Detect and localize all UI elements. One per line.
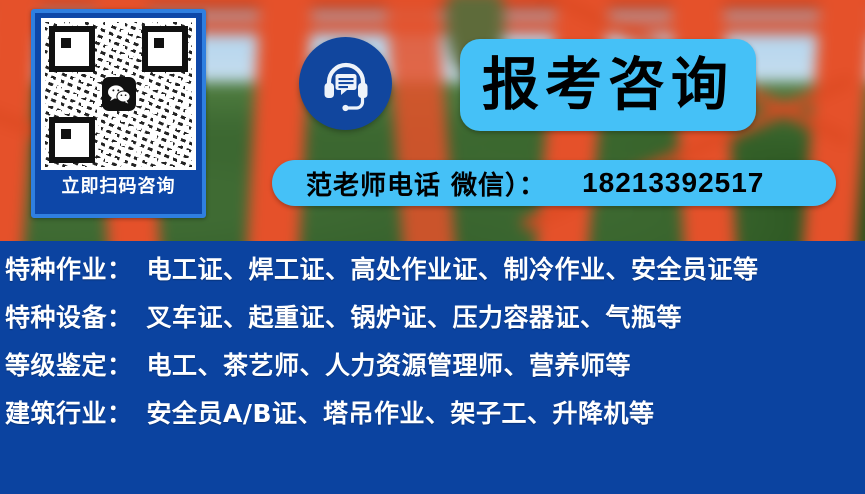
wechat-icon xyxy=(102,77,136,111)
page-title: 报考咨询 xyxy=(482,57,734,114)
promo-banner: 立即扫码咨询 报考咨询 范老师电话 微信）： 18213392517 特种作业：… xyxy=(0,0,865,494)
category-row: 等级鉴定： 电工、茶艺师、人力资源管理师、营养师等 xyxy=(0,346,865,394)
qr-matrix xyxy=(45,22,192,167)
category-label: 特种设备： xyxy=(5,298,133,334)
qr-finder-top-right xyxy=(142,26,188,72)
contact-pill[interactable]: 范老师电话 微信）： 18213392517 xyxy=(272,160,836,206)
category-panel: 特种作业： 电工证、焊工证、高处作业证、制冷作业、安全员证等 特种设备： 叉车证… xyxy=(0,241,865,494)
category-row: 特种设备： 叉车证、起重证、锅炉证、压力容器证、气瓶等 xyxy=(0,298,865,346)
category-items: 电工、茶艺师、人力资源管理师、营养师等 xyxy=(147,346,632,382)
category-label: 特种作业： xyxy=(5,250,133,286)
title-badge: 报考咨询 xyxy=(460,39,756,131)
qr-finder-top-left xyxy=(49,26,95,72)
category-items: 安全员A/B证、塔吊作业、架子工、升降机等 xyxy=(147,394,655,430)
qr-caption: 立即扫码咨询 xyxy=(62,178,176,196)
category-row: 特种作业： 电工证、焊工证、高处作业证、制冷作业、安全员证等 xyxy=(0,250,865,298)
qr-finder-bottom-left xyxy=(49,117,95,163)
category-label: 建筑行业： xyxy=(5,394,133,430)
qr-code-image[interactable] xyxy=(41,18,196,170)
category-row: 建筑行业： 安全员A/B证、塔吊作业、架子工、升降机等 xyxy=(0,394,865,442)
category-label: 等级鉴定： xyxy=(5,346,133,382)
category-items: 叉车证、起重证、锅炉证、压力容器证、气瓶等 xyxy=(147,298,683,334)
contact-label: 范老师电话 微信）： xyxy=(306,165,546,202)
contact-number[interactable]: 18213392517 xyxy=(582,167,764,199)
category-items: 电工证、焊工证、高处作业证、制冷作业、安全员证等 xyxy=(147,250,759,286)
qr-card[interactable]: 立即扫码咨询 xyxy=(31,9,206,218)
headset-support-icon xyxy=(299,37,392,130)
